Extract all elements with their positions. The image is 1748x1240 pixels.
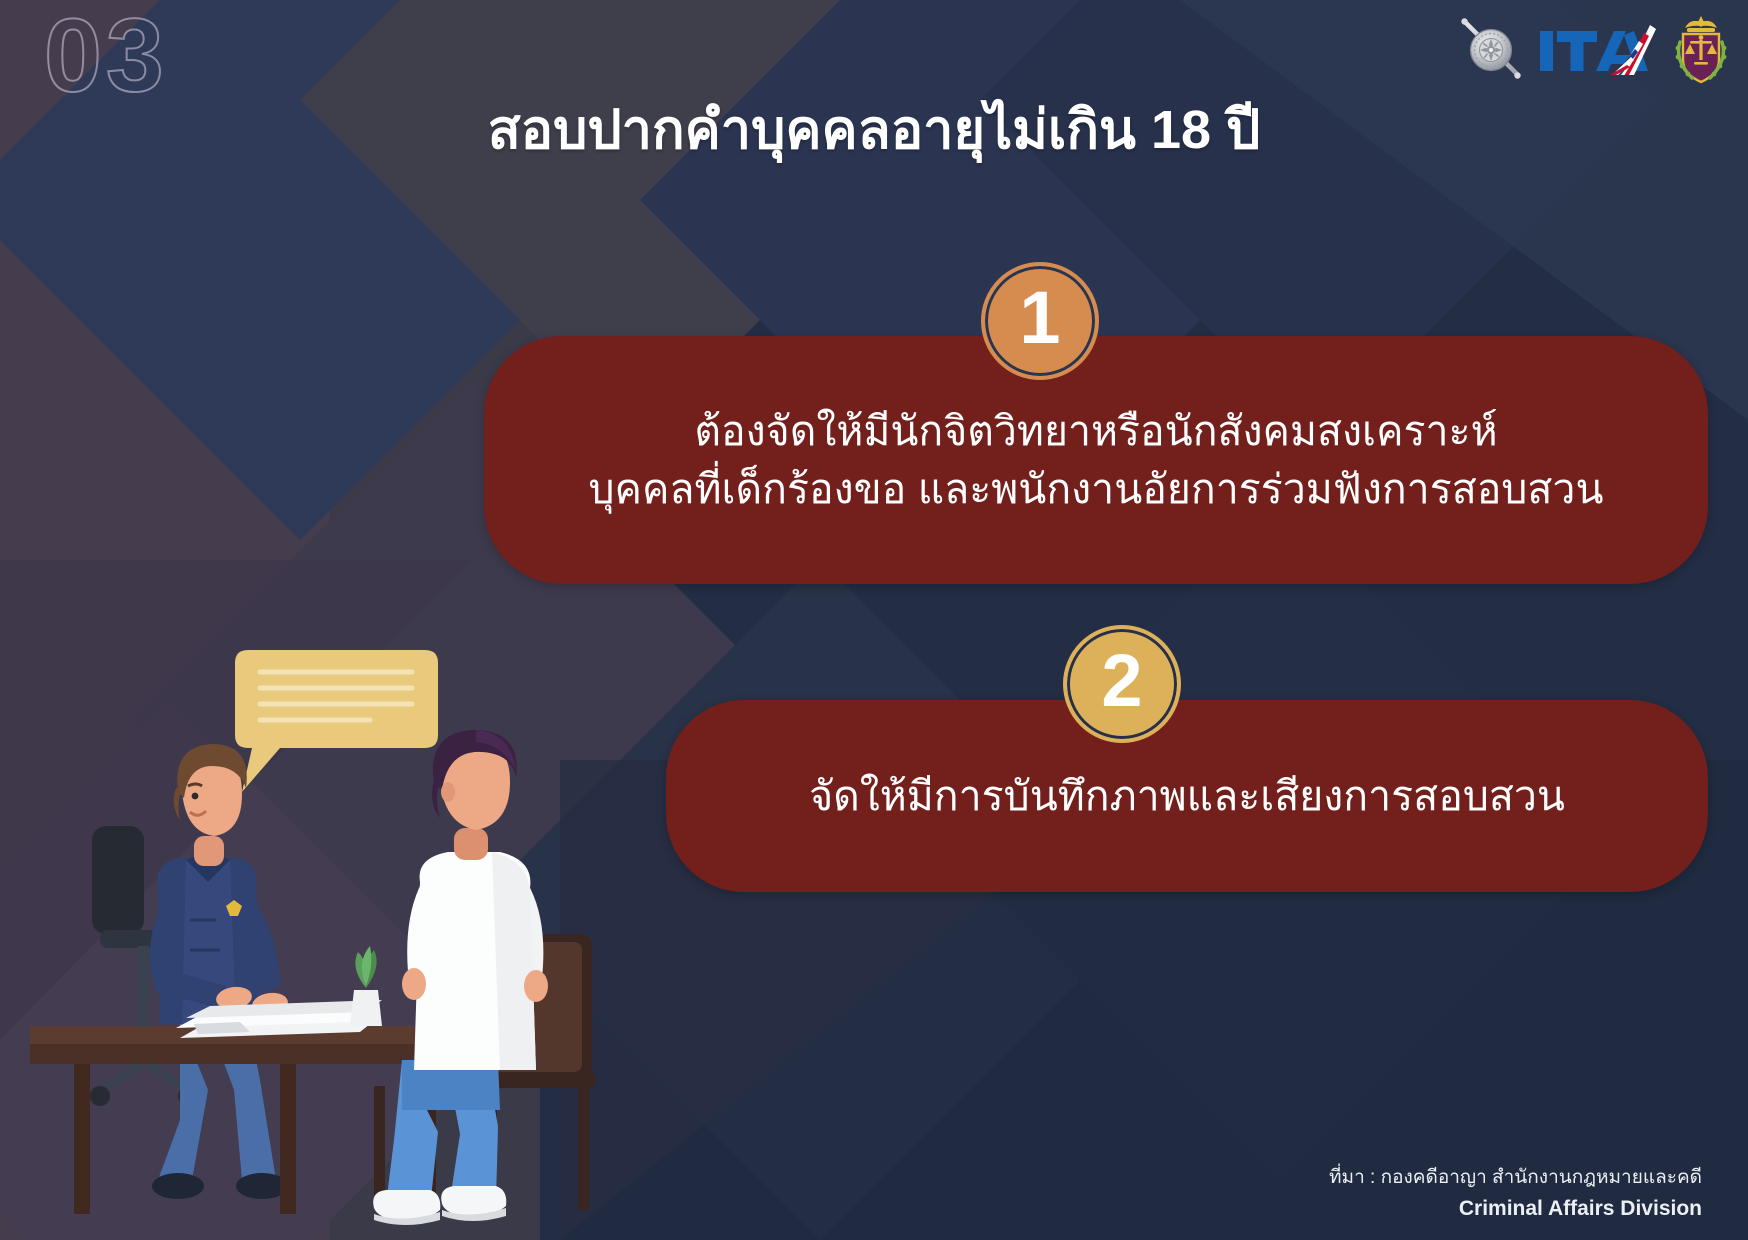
item-1-badge: 1 [981, 262, 1099, 380]
item-1-line-1: ต้องจัดให้มีนักจิตวิทยาหรือนักสังคมสงเคร… [694, 402, 1497, 460]
footer-division: Criminal Affairs Division [1329, 1193, 1702, 1225]
item-2-line-1: จัดให้มีการบันทึกภาพและเสียงการสอบสวน [809, 767, 1565, 825]
footer: ที่มา : กองคดีอาญา สำนักงานกฎหมายและคดี … [1329, 1164, 1702, 1224]
footer-source: ที่มา : กองคดีอาญา สำนักงานกฎหมายและคดี [1329, 1164, 1702, 1193]
speech-bubble-icon [235, 650, 438, 792]
page-title: สอบปากคำบุคคลอายุไม่เกิน 18 ปี [0, 86, 1748, 172]
item-card-1: ต้องจัดให้มีนักจิตวิทยาหรือนักสังคมสงเคร… [484, 336, 1708, 584]
item-1-badge-number: 1 [1019, 275, 1060, 360]
police-officer-figure [150, 744, 289, 1199]
item-card-2: จัดให้มีการบันทึกภาพและเสียงการสอบสวน [666, 700, 1708, 892]
department-crest-logo [1672, 14, 1730, 86]
police-interview-illustration [30, 620, 650, 1240]
item-1-line-2: บุคคลที่เด็กร้องขอ และพนักงานอัยการร่วมฟ… [589, 460, 1604, 518]
poster-canvas: 03 สอบปากคำบุคคลอายุไม่เกิน 18 ปี [0, 0, 1748, 1240]
royal-seal-shield-logo [1454, 13, 1528, 87]
item-2-badge-number: 2 [1101, 638, 1142, 723]
ita-logo [1538, 19, 1662, 81]
interviewee-figure [373, 730, 548, 1225]
logo-group [1454, 12, 1730, 88]
item-2-badge: 2 [1063, 625, 1181, 743]
potted-plant [350, 946, 382, 1026]
